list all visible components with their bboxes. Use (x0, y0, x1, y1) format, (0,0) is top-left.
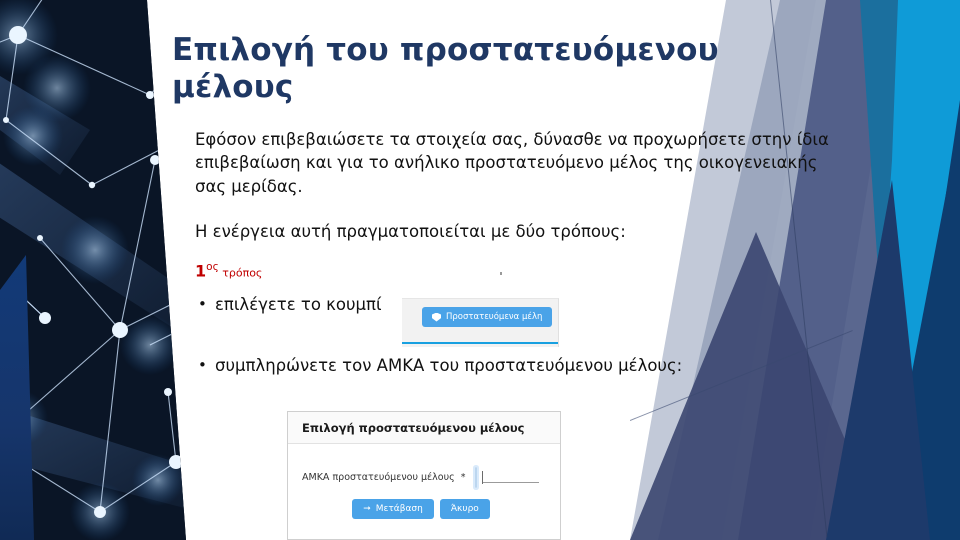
go-button-label: Μετάβαση (376, 504, 423, 514)
slide-body: Εφόσον επιβεβαιώσετε τα στοιχεία σας, δύ… (195, 128, 835, 387)
list-item: • συμπληρώνετε τον ΑΜΚΑ του προστατευόμε… (195, 354, 835, 377)
bullet-marker: • (195, 297, 215, 312)
way-label: 1ος τρόπος (195, 262, 835, 279)
paragraph-intro: Εφόσον επιβεβαιώσετε τα στοιχεία σας, δύ… (195, 128, 835, 198)
way-number: 1 (195, 261, 206, 280)
way-superscript: ος (206, 261, 219, 273)
shield-icon (432, 313, 441, 322)
arrow-right-icon: ➞ (363, 505, 371, 514)
dialog-title: Επιλογή προστατευόμενου μέλους (302, 421, 524, 435)
paragraph-methods: Η ενέργεια αυτή πραγματοποιείται με δύο … (195, 220, 835, 243)
dialog-header: Επιλογή προστατευόμενου μέλους (288, 412, 560, 444)
slide-canvas: Επιλογή του προστατευόμενου μέλους Εφόσο… (0, 0, 960, 540)
go-button[interactable]: ➞ Μετάβαση (352, 499, 434, 519)
required-marker: * (461, 472, 466, 483)
dialog-actions: ➞ Μετάβαση Άκυρο (288, 499, 560, 519)
protected-members-button-label: Προστατευόμενα μέλη (446, 312, 542, 322)
amka-field-row: ΑΜΚΑ προστατευόμενου μέλους * (288, 444, 560, 487)
dialog-body: ΑΜΚΑ προστατευόμενου μέλους * ➞ Μετάβαση… (288, 444, 560, 540)
page-title: Επιλογή του προστατευόμενου μέλους (172, 32, 832, 106)
bullet-marker: • (195, 358, 215, 373)
cancel-button[interactable]: Άκυρο (440, 499, 490, 519)
protected-members-button-screenshot: Προστατευόμενα μέλη (402, 298, 559, 347)
select-protected-member-dialog-screenshot: Επιλογή προστατευόμενου μέλους ΑΜΚΑ προσ… (287, 411, 561, 540)
bullet-text-enter-amka: συμπληρώνετε τον ΑΜΚΑ του προστατευόμενο… (215, 354, 682, 377)
accent-underbar (402, 342, 558, 344)
amka-input-wrapper (475, 468, 477, 487)
amka-field-label: ΑΜΚΑ προστατευόμενου μέλους (302, 472, 455, 483)
way-text: τρόπος (219, 266, 263, 279)
input-underline (483, 482, 539, 483)
cancel-button-label: Άκυρο (451, 504, 479, 514)
bullet-text-select-button: επιλέγετε το κουμπί (215, 293, 382, 316)
stray-mark (500, 272, 502, 275)
amka-input[interactable] (475, 467, 477, 488)
protected-members-button[interactable]: Προστατευόμενα μέλη (422, 307, 552, 327)
